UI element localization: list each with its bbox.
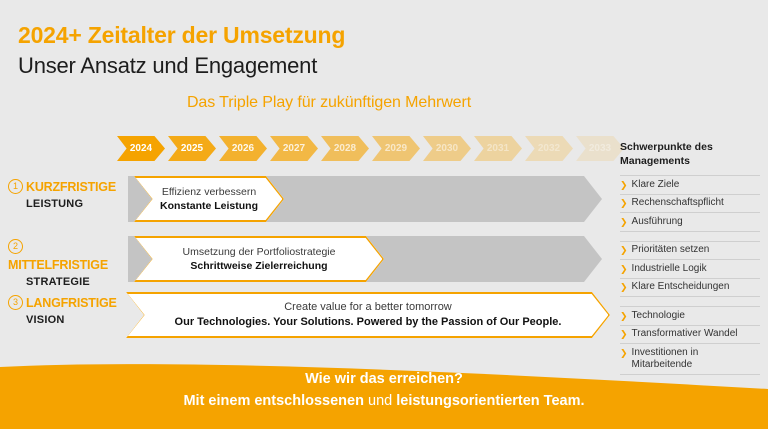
footer-line-2-c: leistungsorientierten Team. bbox=[396, 393, 584, 409]
timeline-year-2026[interactable]: 2026 bbox=[219, 136, 267, 161]
footer-line-2-b: und bbox=[368, 393, 392, 409]
page-title: 2024+ Zeitalter der Umsetzung bbox=[18, 22, 345, 49]
row-label-short-term: 1KURZFRISTIGE LEISTUNG bbox=[8, 178, 118, 210]
list-item-label: Klare Ziele bbox=[632, 179, 680, 192]
list-item-label: Technologie bbox=[632, 310, 685, 323]
list-item[interactable]: ❯Rechenschaftspflicht bbox=[620, 194, 760, 213]
page-subtitle: Unser Ansatz und Engagement bbox=[18, 53, 317, 79]
management-focus-title: Schwerpunkte des Managements bbox=[620, 140, 760, 168]
list-item[interactable]: ❯Technologie bbox=[620, 306, 760, 325]
chevron-right-icon: ❯ bbox=[620, 310, 628, 322]
chevron-right-icon: ❯ bbox=[620, 281, 628, 293]
list-item-label: Prioritäten setzen bbox=[632, 244, 710, 257]
tagline: Das Triple Play für zukünftigen Mehrwert bbox=[0, 94, 768, 112]
management-focus-panel: Schwerpunkte des Managements ❯Klare Ziel… bbox=[620, 140, 760, 384]
list-item-label: Klare Entscheidungen bbox=[632, 281, 730, 294]
callout-short-term: Effizienz verbessern Konstante Leistung bbox=[134, 176, 284, 222]
chevron-right-icon: ❯ bbox=[620, 263, 628, 275]
chevron-right-icon: ❯ bbox=[620, 179, 628, 191]
list-item-label: Transformativer Wandel bbox=[632, 328, 738, 341]
timeline-year-2025[interactable]: 2025 bbox=[168, 136, 216, 161]
management-focus-group: ❯Klare Ziele❯Rechenschaftspflicht❯Ausfüh… bbox=[620, 175, 760, 232]
footer-line-2-a: Mit einem entschlossenen bbox=[183, 393, 364, 409]
list-item[interactable]: ❯Prioritäten setzen bbox=[620, 241, 760, 260]
list-item[interactable]: ❯Klare Ziele bbox=[620, 175, 760, 194]
callout-body: Create value for a better tomorrow Our T… bbox=[128, 294, 609, 337]
list-item[interactable]: ❯Ausführung bbox=[620, 212, 760, 232]
row-number-badge: 2 bbox=[8, 239, 23, 254]
timeline-year-2024[interactable]: 2024 bbox=[117, 136, 165, 161]
footer-banner: Wie wir das erreichen? Mit einem entschl… bbox=[0, 349, 768, 429]
callout-long-term: Create value for a better tomorrow Our T… bbox=[126, 292, 610, 338]
row-number-badge: 3 bbox=[8, 295, 23, 310]
row-label-long-term: 3LANGFRISTIGE VISION bbox=[8, 294, 118, 326]
list-item[interactable]: ❯Klare Entscheidungen bbox=[620, 278, 760, 298]
row-number-badge: 1 bbox=[8, 179, 23, 194]
slide-canvas: 2024+ Zeitalter der Umsetzung Unser Ansa… bbox=[0, 0, 768, 429]
footer-text: Wie wir das erreichen? Mit einem entschl… bbox=[0, 369, 768, 413]
list-item-label: Rechenschaftspflicht bbox=[632, 197, 724, 210]
timeline-year-2033[interactable]: 2033 bbox=[576, 136, 624, 161]
footer-line-1: Wie wir das erreichen? bbox=[0, 369, 768, 391]
row-label-mid-term: 2MITTELFRISTIGE STRATEGIE bbox=[8, 238, 118, 288]
timeline: 2024202520262027202820292030203120322033 bbox=[117, 136, 627, 161]
timeline-year-2028[interactable]: 2028 bbox=[321, 136, 369, 161]
chevron-right-icon: ❯ bbox=[620, 328, 628, 340]
callout-line-2: Konstante Leistung bbox=[160, 199, 258, 213]
timeline-year-2027[interactable]: 2027 bbox=[270, 136, 318, 161]
list-item-label: Ausführung bbox=[632, 216, 683, 229]
callout-line-2: Schrittweise Zielerreichung bbox=[190, 259, 327, 273]
callout-line-2: Our Technologies. Your Solutions. Powere… bbox=[175, 315, 562, 330]
timeline-year-2031[interactable]: 2031 bbox=[474, 136, 522, 161]
row-label-secondary: LEISTUNG bbox=[26, 198, 118, 210]
chevron-right-icon: ❯ bbox=[620, 244, 628, 256]
chevron-right-icon: ❯ bbox=[620, 197, 628, 209]
row-label-primary: MITTELFRISTIGE bbox=[8, 258, 108, 272]
list-item-label: Industrielle Logik bbox=[632, 263, 707, 276]
callout-body: Effizienz verbessern Konstante Leistung bbox=[136, 178, 283, 221]
footer-line-2: Mit einem entschlossenen und leistungsor… bbox=[0, 391, 768, 413]
callout-line-1: Create value for a better tomorrow bbox=[284, 300, 452, 315]
timeline-year-2030[interactable]: 2030 bbox=[423, 136, 471, 161]
row-label-primary: KURZFRISTIGE bbox=[26, 180, 116, 194]
list-item[interactable]: ❯Industrielle Logik bbox=[620, 259, 760, 278]
row-label-secondary: STRATEGIE bbox=[26, 276, 118, 288]
timeline-year-2029[interactable]: 2029 bbox=[372, 136, 420, 161]
row-label-primary: LANGFRISTIGE bbox=[26, 296, 117, 310]
chevron-right-icon: ❯ bbox=[620, 216, 628, 228]
management-focus-group: ❯Prioritäten setzen❯Industrielle Logik❯K… bbox=[620, 241, 760, 298]
callout-line-1: Effizienz verbessern bbox=[162, 185, 256, 199]
callout-mid-term: Umsetzung der Portfoliostrategie Schritt… bbox=[134, 236, 384, 282]
timeline-year-2032[interactable]: 2032 bbox=[525, 136, 573, 161]
callout-body: Umsetzung der Portfoliostrategie Schritt… bbox=[136, 238, 383, 281]
list-item[interactable]: ❯Transformativer Wandel bbox=[620, 325, 760, 344]
callout-line-1: Umsetzung der Portfoliostrategie bbox=[183, 245, 336, 259]
row-label-secondary: VISION bbox=[26, 314, 118, 326]
